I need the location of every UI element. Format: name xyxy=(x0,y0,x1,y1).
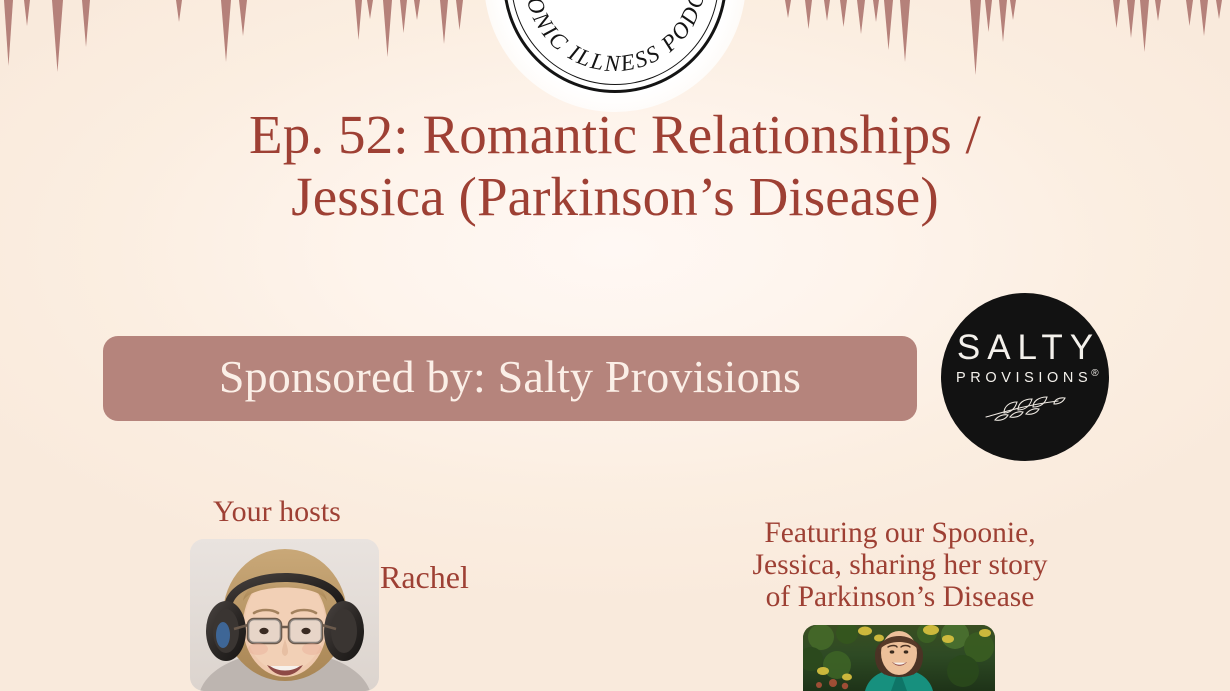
sponsor-logo-secondary-row: PROVISIONS ® xyxy=(951,371,1098,386)
svg-text:CHRONIC ILLNESS PODCAST: CHRONIC ILLNESS PODCAST xyxy=(484,0,710,76)
sponsor-banner: Sponsored by: Salty Provisions xyxy=(103,336,917,421)
registered-trademark-icon: ® xyxy=(1091,369,1098,379)
sponsor-banner-label: Sponsored by: Salty Provisions xyxy=(219,354,801,404)
hosts-label: Your hosts xyxy=(213,497,341,527)
featuring-guest-text: Featuring our Spoonie, Jessica, sharing … xyxy=(700,517,1100,613)
olive-branch-icon xyxy=(982,396,1068,422)
guest-photo-jessica xyxy=(803,625,995,691)
salty-provisions-logo: SALTY PROVISIONS ® xyxy=(941,293,1109,461)
sponsor-logo-primary: SALTY xyxy=(950,330,1100,365)
episode-cover-canvas: CHRONIC ILLNESS PODCAST Ep. 52: Romantic… xyxy=(0,0,1230,691)
badge-arc-text: CHRONIC ILLNESS PODCAST xyxy=(484,0,746,112)
sponsor-logo-secondary: PROVISIONS xyxy=(951,371,1092,386)
host-photo-rachel xyxy=(190,539,379,691)
podcast-logo-badge: CHRONIC ILLNESS PODCAST xyxy=(484,0,746,112)
episode-title: Ep. 52: Romantic Relationships / Jessica… xyxy=(0,104,1230,227)
host-name-rachel: Rachel xyxy=(380,561,469,593)
